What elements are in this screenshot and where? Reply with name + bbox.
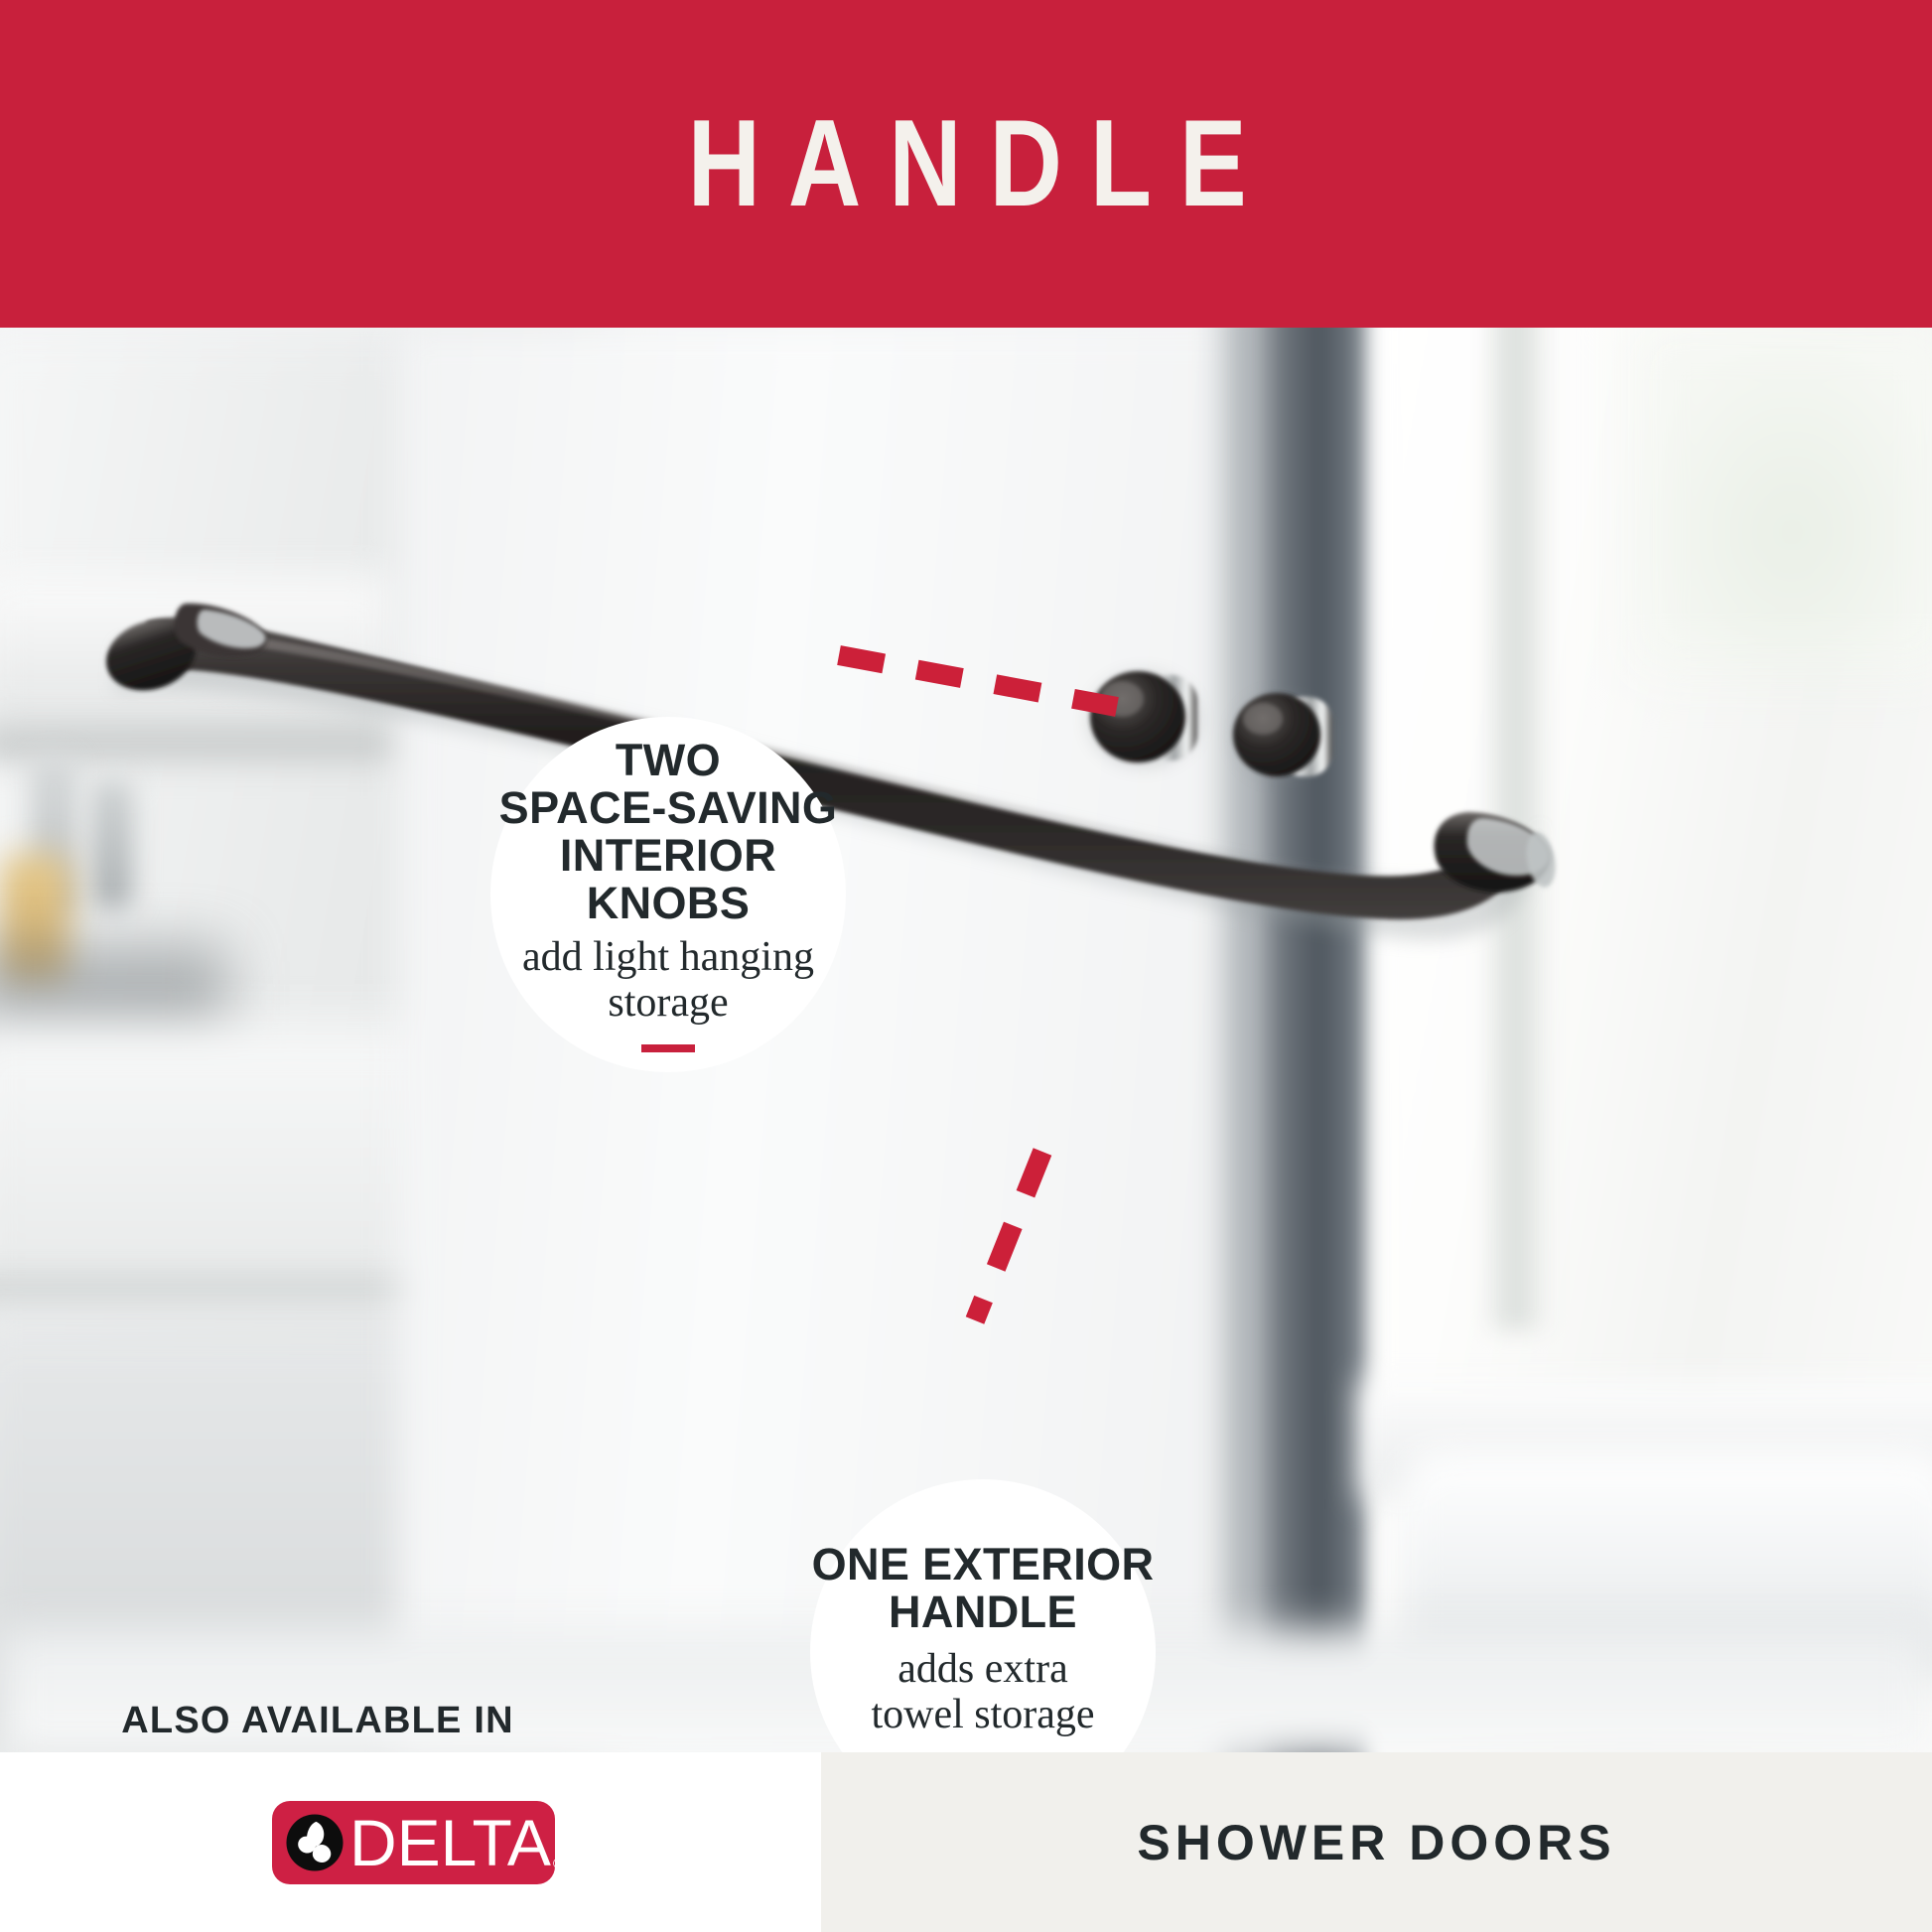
callout-interior-knobs: TWO SPACE-SAVING INTERIOR KNOBS add ligh… [490, 717, 846, 1072]
infographic-page: HANDLE [0, 0, 1932, 1932]
callout-subtext: add light hanging storage [522, 934, 814, 1026]
delta-wordmark: DELTA [349, 1810, 551, 1875]
callout-accent-rule [641, 1044, 695, 1052]
footer-tagline: SHOWER DOORS [821, 1752, 1932, 1932]
leader-line-handle [975, 1152, 1042, 1320]
delta-logo[interactable]: DELTA ® [272, 1801, 555, 1884]
finishes-title: ALSO AVAILABLE IN [119, 1700, 516, 1742]
page-title: HANDLE [687, 102, 1274, 225]
page-footer: DELTA ® SHOWER DOORS [0, 1752, 1932, 1932]
callout-subtext: adds extra towel storage [871, 1646, 1094, 1737]
leader-line-knobs [839, 655, 1117, 707]
delta-triangle-drop-icon [284, 1812, 345, 1873]
registered-trademark-icon: ® [553, 1856, 564, 1872]
also-available-in-section: ALSO AVAILABLE IN CHROME BRUSHED NICKEL [119, 1700, 516, 1752]
product-photo: TWO SPACE-SAVING INTERIOR KNOBS add ligh… [0, 328, 1932, 1752]
page-header-banner: HANDLE [0, 0, 1932, 328]
callout-heading: ONE EXTERIOR HANDLE [812, 1541, 1155, 1635]
callout-heading: TWO SPACE-SAVING INTERIOR KNOBS [490, 737, 846, 926]
